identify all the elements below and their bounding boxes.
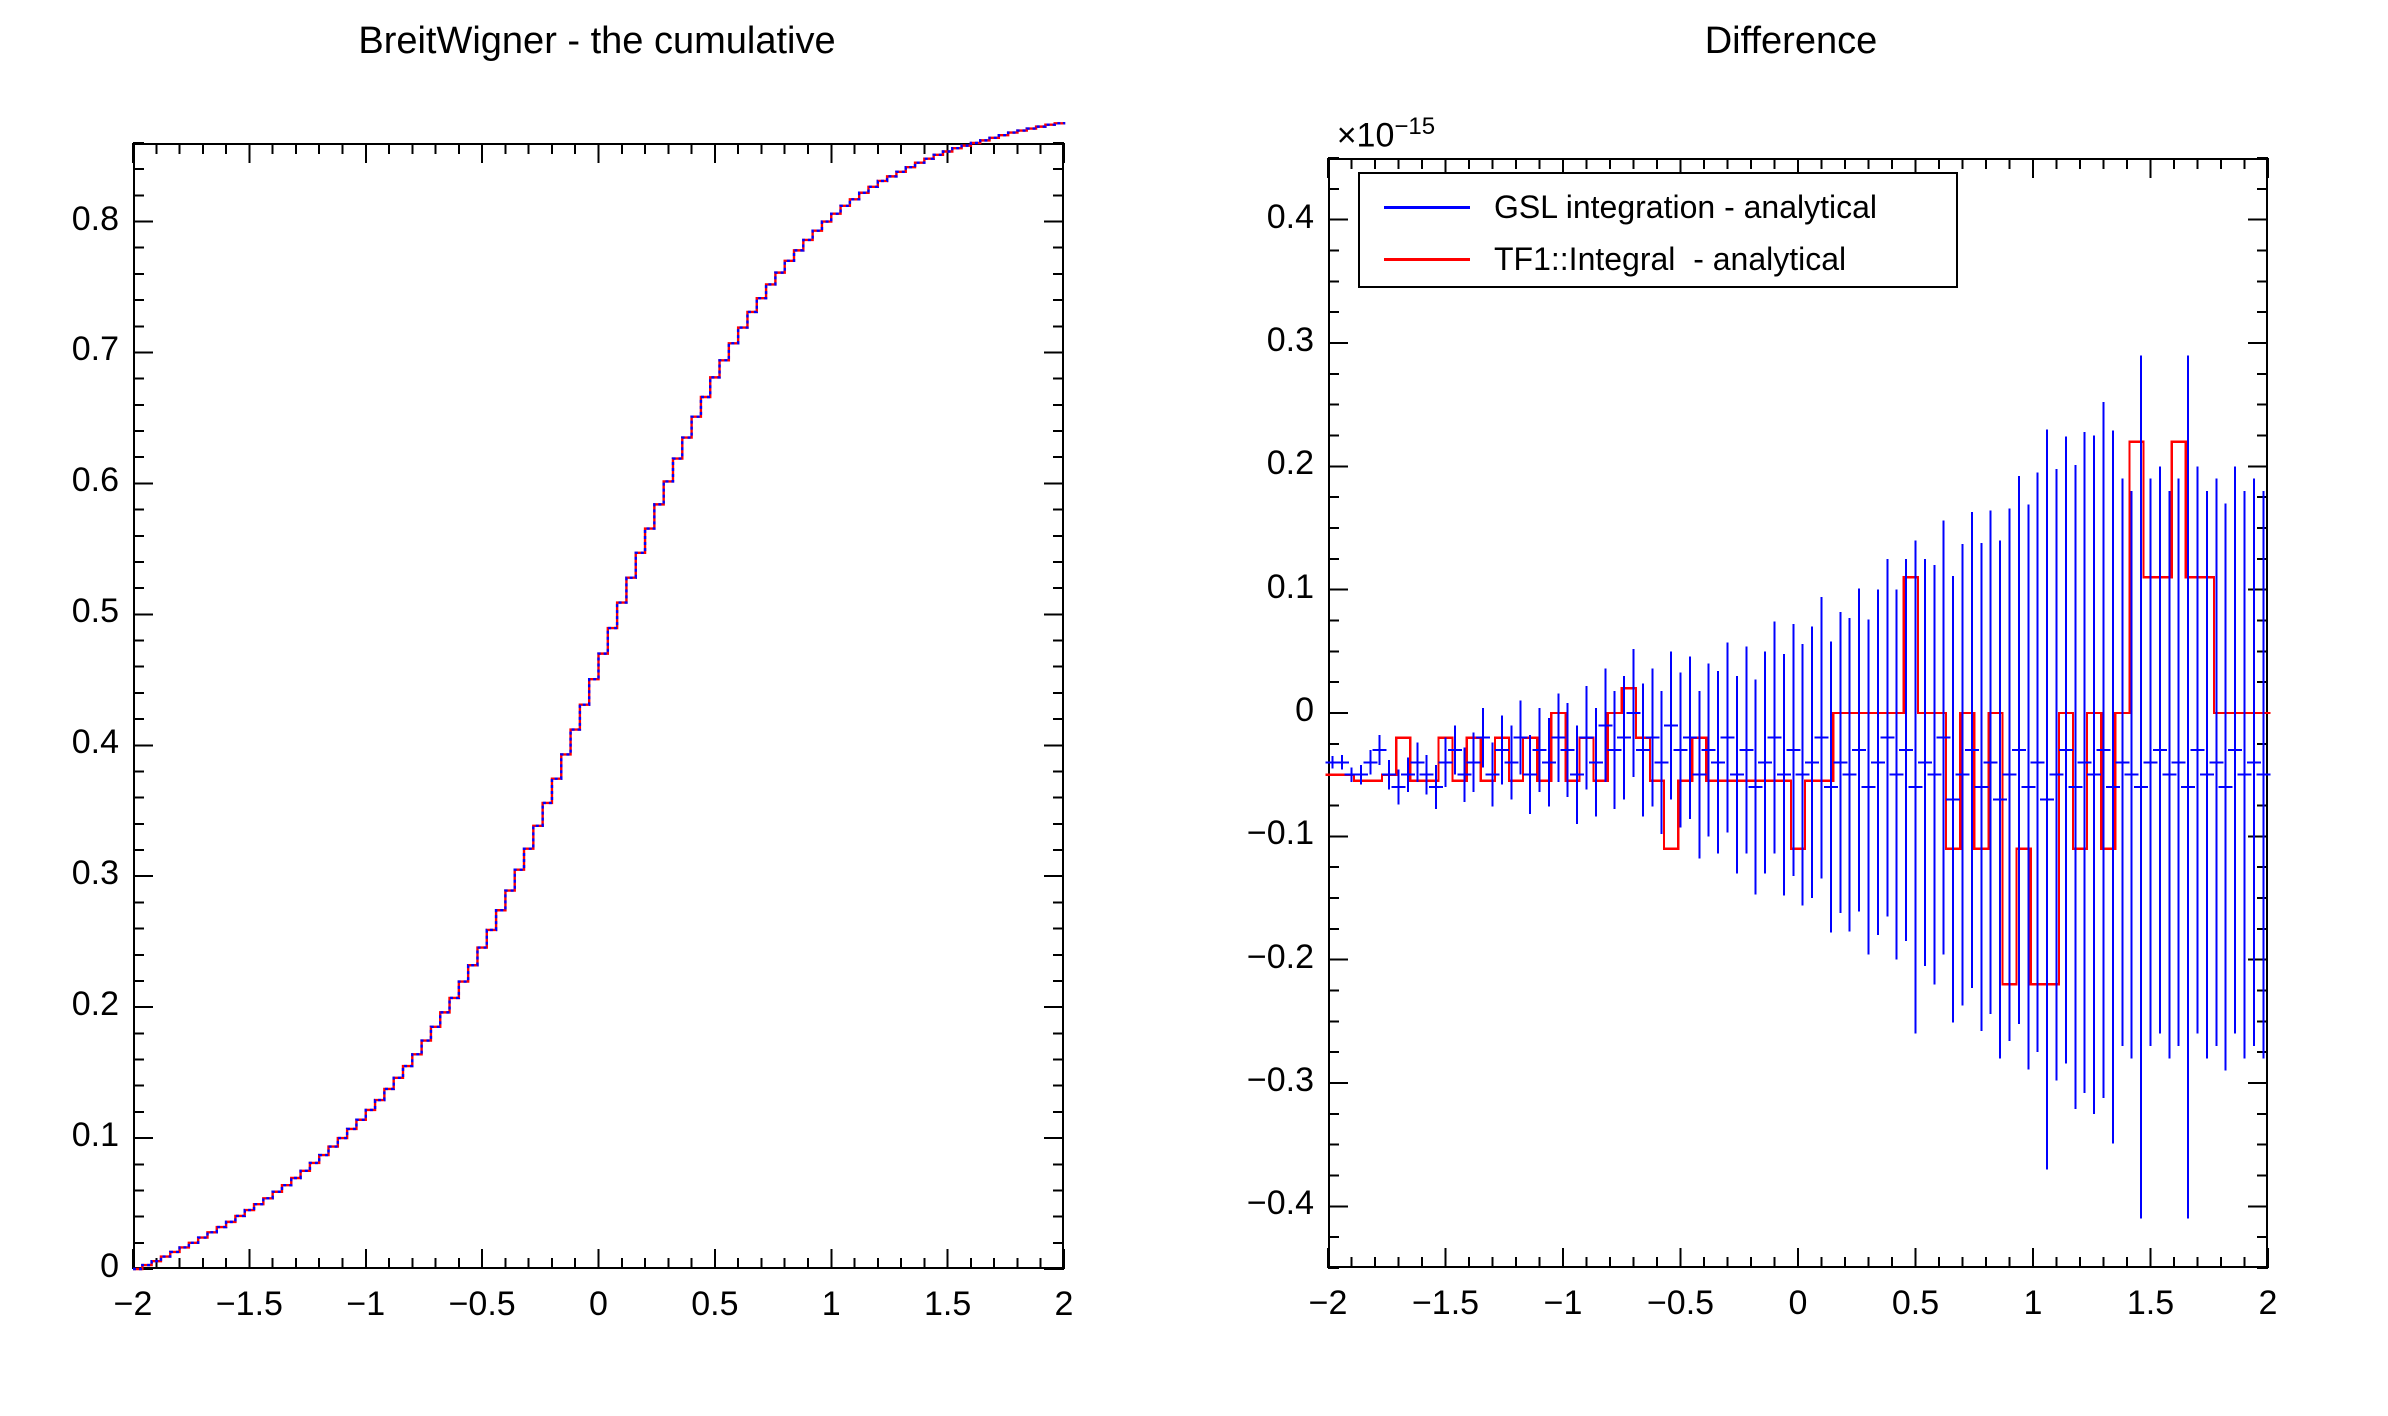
- left-y-tick-0: 0: [11, 1247, 119, 1286]
- pad-difference: Difference ×10−15 −0.4−0.3−0.2−0.100.10.…: [1194, 0, 2388, 1416]
- right-y-tick-5: 0.1: [1198, 568, 1314, 607]
- right-y-tick-4: 0: [1198, 691, 1314, 730]
- left-y-tick-6: 0.6: [11, 461, 119, 500]
- right-y-tick-6: 0.2: [1198, 444, 1314, 483]
- left-y-tick-1: 0.1: [11, 1116, 119, 1155]
- left-y-tick-8: 0.8: [11, 200, 119, 239]
- legend-entry-1[interactable]: TF1::Integral - analytical: [1360, 234, 1956, 284]
- legend-line-swatch-1: [1384, 258, 1470, 261]
- root-canvas: BreitWigner - the cumulative 00.10.20.30…: [0, 0, 2388, 1416]
- right-y-tick-2: −0.2: [1198, 938, 1314, 977]
- right-y-tick-8: 0.4: [1198, 198, 1314, 237]
- left-y-tick-3: 0.3: [11, 854, 119, 893]
- legend-label-1: TF1::Integral - analytical: [1494, 241, 1846, 278]
- left-x-tick-8: 2: [994, 1285, 1134, 1324]
- left-y-tick-7: 0.7: [11, 330, 119, 369]
- left-y-tick-5: 0.5: [11, 592, 119, 631]
- left-y-tick-4: 0.4: [11, 723, 119, 762]
- left-y-tick-2: 0.2: [11, 985, 119, 1024]
- difference-legend: GSL integration - analyticalTF1::Integra…: [1358, 172, 1958, 288]
- legend-line-swatch-0: [1384, 206, 1470, 209]
- right-y-tick-7: 0.3: [1198, 321, 1314, 360]
- legend-entry-0[interactable]: GSL integration - analytical: [1360, 182, 1956, 232]
- right-x-tick-8: 2: [2198, 1284, 2338, 1323]
- right-y-tick-3: −0.1: [1198, 814, 1314, 853]
- legend-label-0: GSL integration - analytical: [1494, 189, 1877, 226]
- pad-breitwigner-cumulative: BreitWigner - the cumulative 00.10.20.30…: [0, 0, 1194, 1416]
- right-y-tick-1: −0.3: [1198, 1061, 1314, 1100]
- left-plot-graphics: [0, 0, 1194, 1416]
- right-y-tick-0: −0.4: [1198, 1184, 1314, 1223]
